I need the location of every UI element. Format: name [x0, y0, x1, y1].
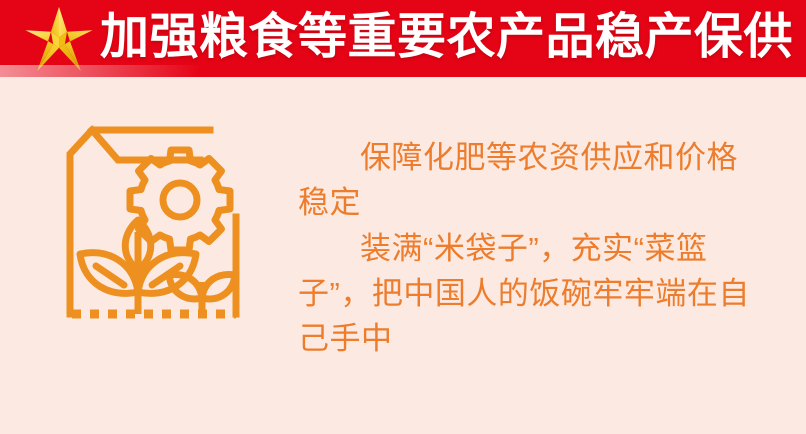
- agriculture-document-gear-plants-icon: [60, 122, 270, 352]
- paragraph-1: 保障化肥等农资供应和价格稳定: [298, 135, 768, 225]
- text-column: 保障化肥等农资供应和价格稳定 装满“米袋子”，充实“菜篮子”，把中国人的饭碗牢牢…: [298, 135, 768, 361]
- content-area: 保障化肥等农资供应和价格稳定 装满“米袋子”，充实“菜篮子”，把中国人的饭碗牢牢…: [0, 77, 806, 434]
- paragraph-2: 装满“米袋子”，充实“菜篮子”，把中国人的饭碗牢牢端在自己手中: [298, 226, 768, 361]
- five-pointed-star-icon: [22, 4, 96, 74]
- poster-root: 加强粮食等重要农产品稳产保供: [0, 0, 806, 434]
- page-title: 加强粮食等重要农产品稳产保供: [100, 0, 793, 77]
- header-banner: 加强粮食等重要农产品稳产保供: [0, 0, 806, 77]
